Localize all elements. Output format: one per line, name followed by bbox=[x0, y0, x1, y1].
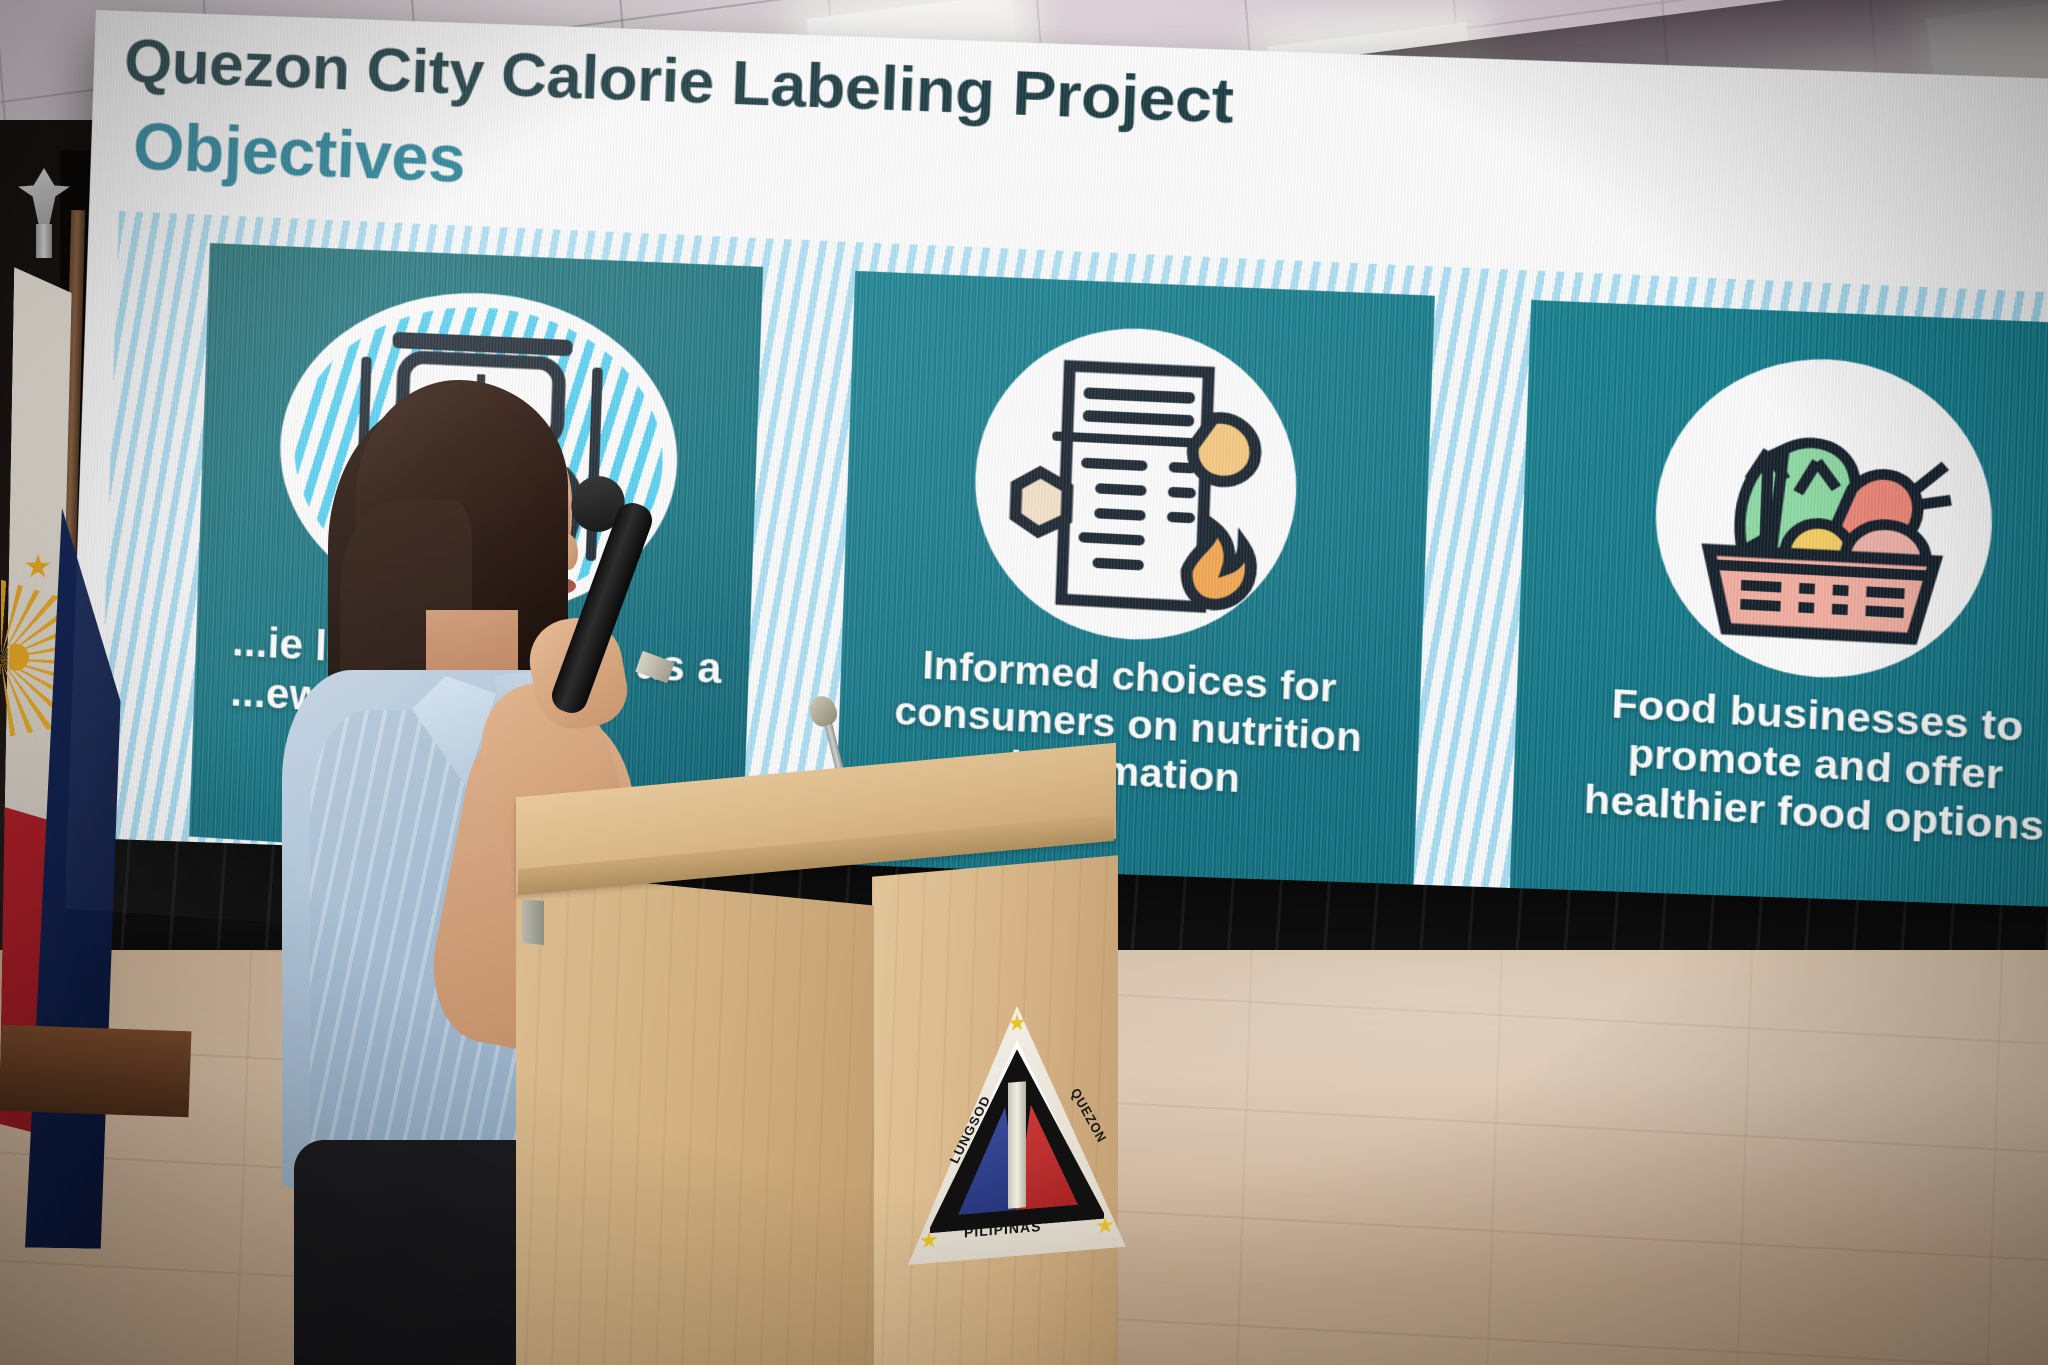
vegetable-basket-icon bbox=[1651, 352, 1999, 686]
objective-panel-3: Food businesses to promote and offer hea… bbox=[1508, 300, 2048, 959]
podium-front-panel bbox=[516, 870, 874, 1365]
podium: LUNGSOD QUEZON PILIPINAS bbox=[516, 770, 1116, 1365]
basket-svg bbox=[1679, 380, 1969, 659]
slide-subtitle: Objectives bbox=[132, 108, 467, 198]
conference-room-scene: Quezon City Calorie Labeling Project Obj… bbox=[0, 0, 2048, 1365]
document-svg bbox=[997, 349, 1274, 621]
quezon-memorial-monument-icon bbox=[1008, 1081, 1026, 1209]
nutrition-label-document-icon bbox=[970, 322, 1302, 649]
podium-hinge bbox=[522, 899, 544, 945]
flag-stand-base bbox=[0, 1025, 191, 1118]
wood-grain bbox=[516, 870, 874, 1365]
flag-finial-base bbox=[36, 224, 52, 258]
microphone-band bbox=[635, 651, 674, 683]
quezon-city-seal: LUNGSOD QUEZON PILIPINAS bbox=[908, 997, 1126, 1265]
flag-cloth bbox=[2, 267, 118, 969]
